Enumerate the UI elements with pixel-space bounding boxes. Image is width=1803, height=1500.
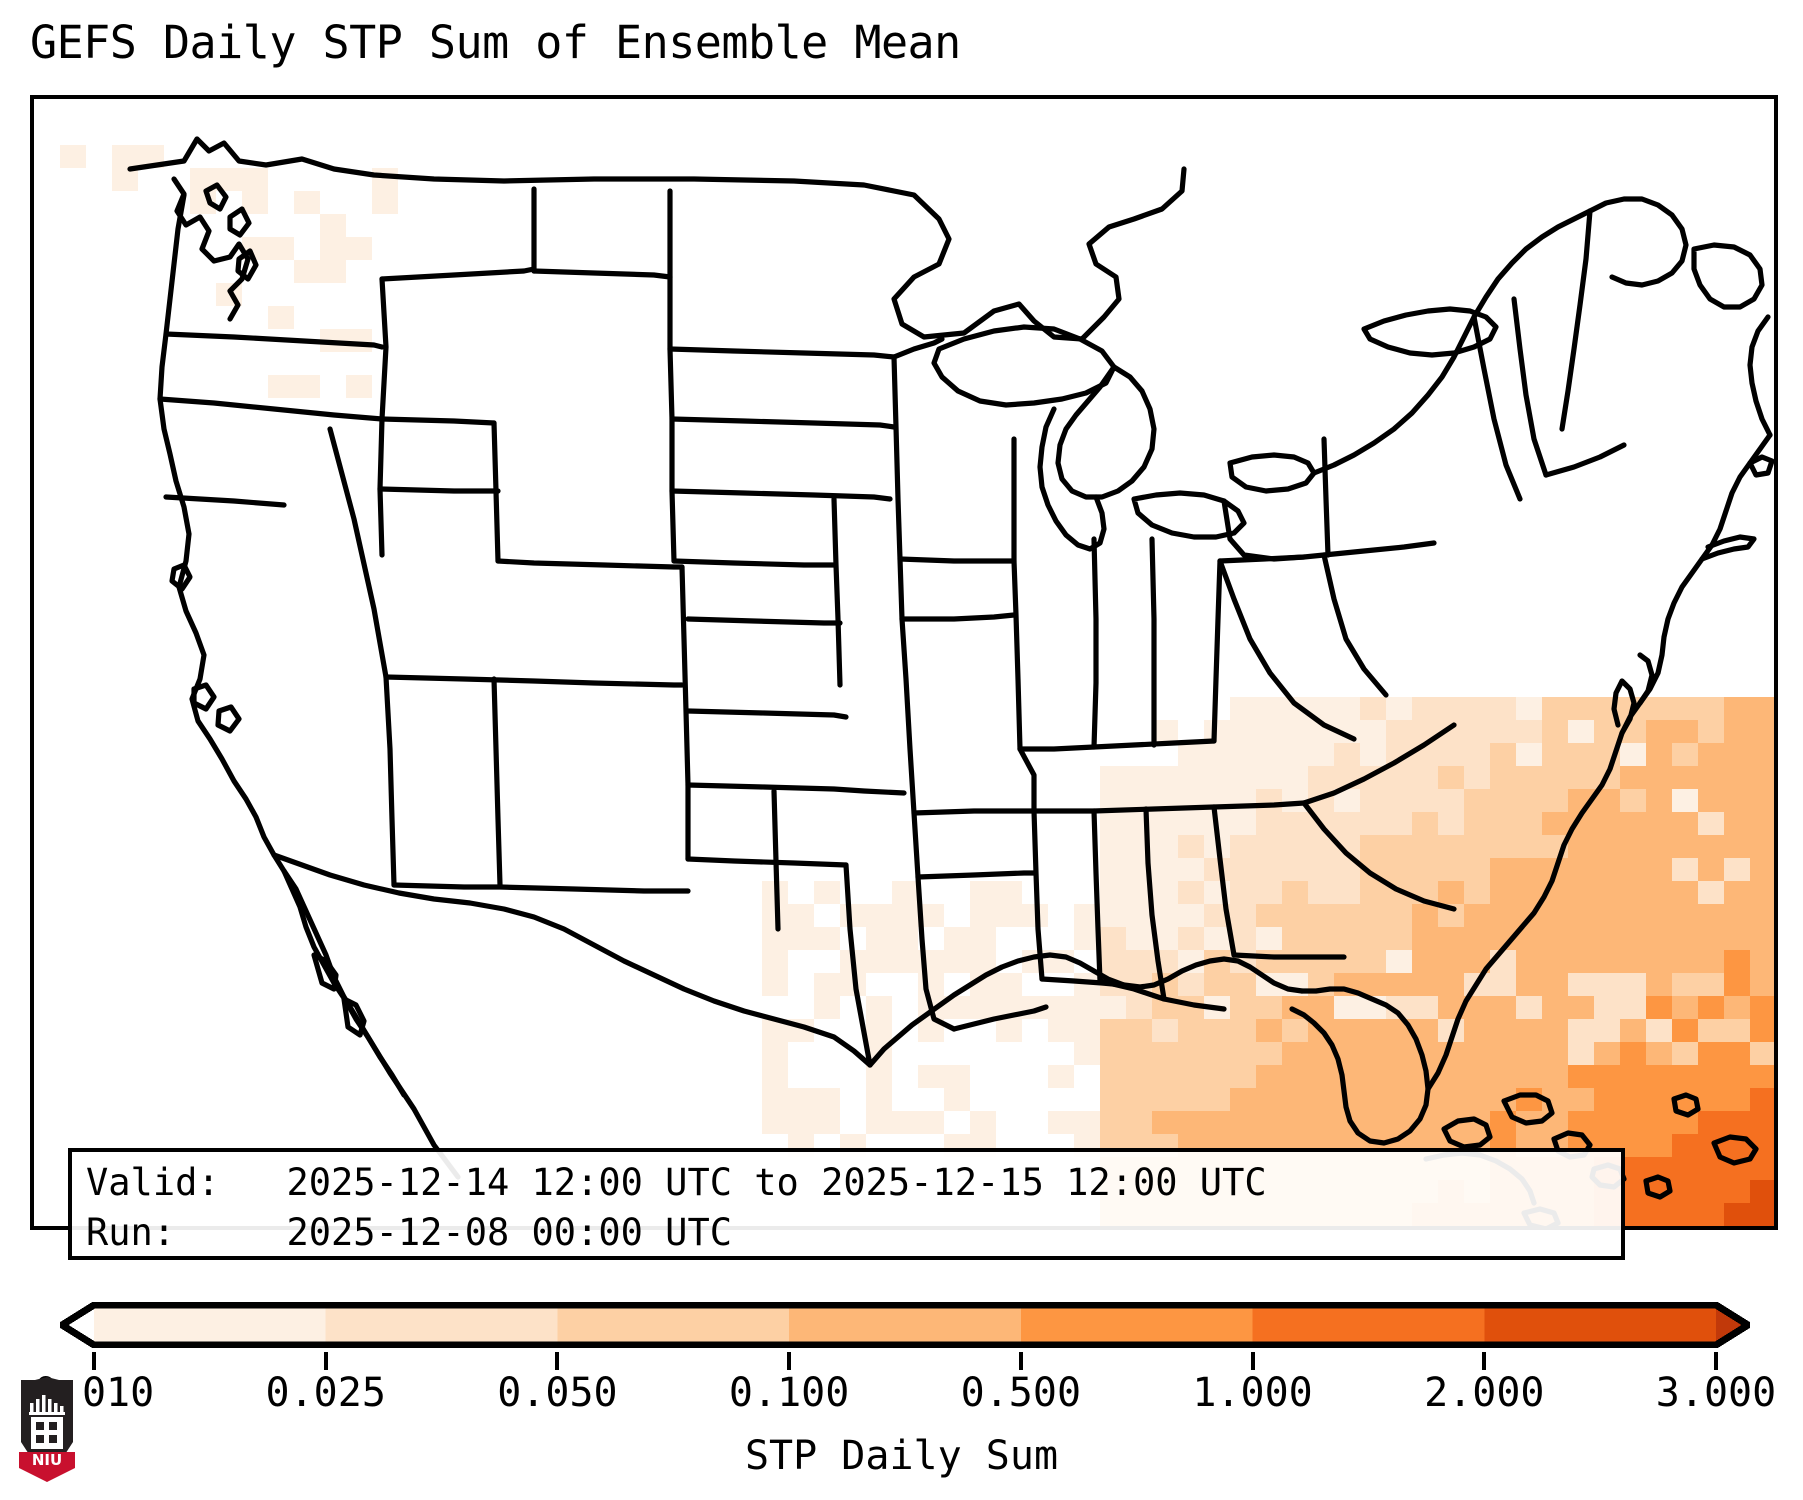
colorbar-band bbox=[1253, 1305, 1485, 1345]
colorbar-band bbox=[94, 1305, 326, 1345]
colorbar-tick-label: 2.000 bbox=[1424, 1370, 1544, 1416]
map-panel[interactable] bbox=[30, 95, 1778, 1230]
colorbar-band bbox=[557, 1305, 789, 1345]
colorbar-tick-mark bbox=[1482, 1352, 1486, 1370]
colorbar-tick-label: 0.025 bbox=[265, 1370, 385, 1416]
colorbar-tick-labels: 0.0100.0250.0500.1000.5001.0002.0003.000 bbox=[0, 1370, 1803, 1420]
colorbar-band bbox=[1484, 1305, 1716, 1345]
colorbar-tick-mark bbox=[1019, 1352, 1023, 1370]
valid-run-infobox: Valid: 2025-12-14 12:00 UTC to 2025-12-1… bbox=[68, 1148, 1625, 1260]
colorbar-svg bbox=[60, 1302, 1750, 1348]
niu-logo[interactable]: NIU bbox=[16, 1376, 78, 1484]
figure-title: GEFS Daily STP Sum of Ensemble Mean bbox=[30, 14, 961, 72]
niu-banner-point bbox=[19, 1468, 75, 1482]
colorbar-band bbox=[326, 1305, 558, 1345]
run-line: Run: 2025-12-08 00:00 UTC bbox=[86, 1208, 1607, 1258]
colorbar-tick-mark bbox=[787, 1352, 791, 1370]
colorbar-tick-mark bbox=[1714, 1352, 1718, 1370]
colorbar[interactable] bbox=[60, 1302, 1750, 1348]
colorbar-tick-label: 0.500 bbox=[961, 1370, 1081, 1416]
colorbar-axis-label: STP Daily Sum bbox=[0, 1432, 1803, 1480]
colorbar-tick-label: 0.100 bbox=[729, 1370, 849, 1416]
colorbar-tick-mark bbox=[1251, 1352, 1255, 1370]
colorbar-band bbox=[1021, 1305, 1253, 1345]
niu-banner-text: NIU bbox=[32, 1451, 62, 1469]
colorbar-tick-mark bbox=[92, 1352, 96, 1370]
map-clip bbox=[34, 99, 1774, 1226]
colorbar-tick-mark bbox=[324, 1352, 328, 1370]
valid-line: Valid: 2025-12-14 12:00 UTC to 2025-12-1… bbox=[86, 1158, 1607, 1208]
colorbar-band bbox=[789, 1305, 1021, 1345]
figure-root: GEFS Daily STP Sum of Ensemble Mean bbox=[0, 0, 1803, 1500]
colorbar-tick-label: 3.000 bbox=[1656, 1370, 1776, 1416]
colorbar-tick-mark bbox=[555, 1352, 559, 1370]
geography-layer bbox=[34, 99, 1774, 1226]
colorbar-tick-label: 0.050 bbox=[497, 1370, 617, 1416]
colorbar-tick-label: 1.000 bbox=[1192, 1370, 1312, 1416]
